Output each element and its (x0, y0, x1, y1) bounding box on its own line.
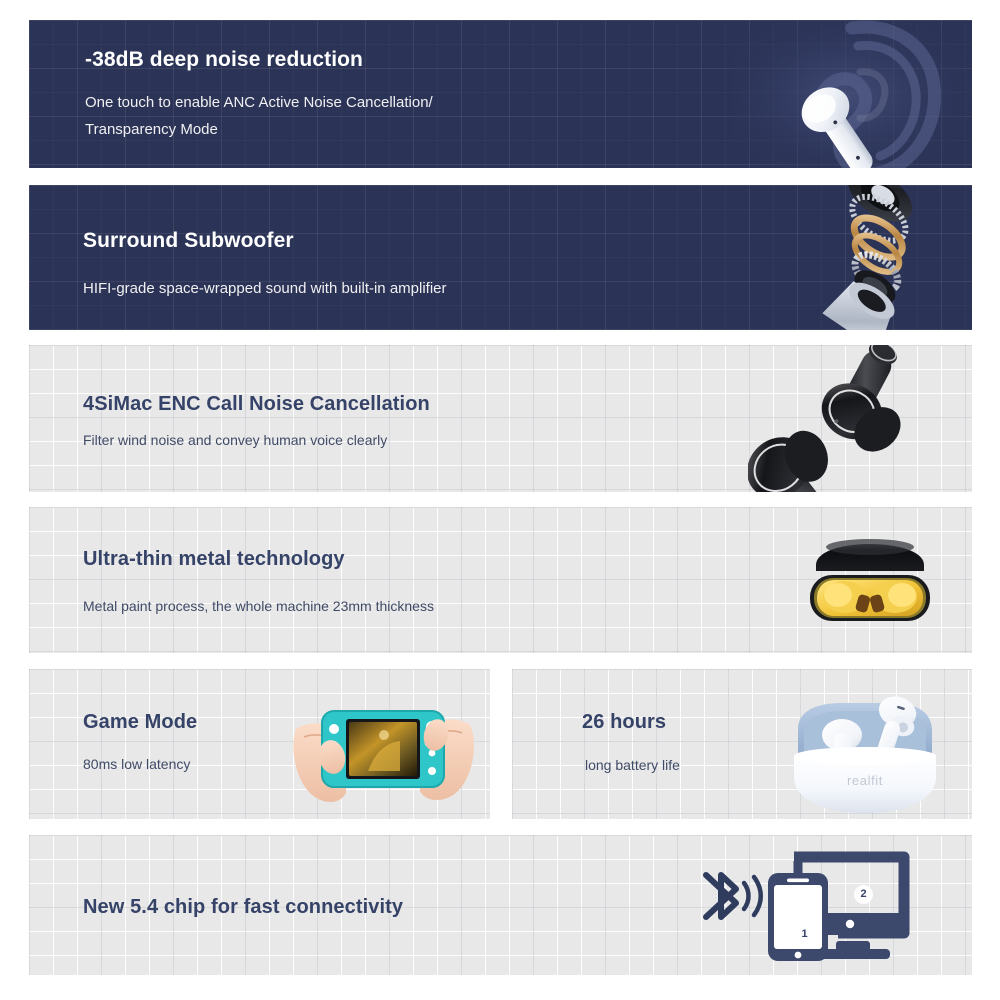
case-brand-text: realfit (847, 773, 883, 788)
panel-game-mode: Game Mode 80ms low latency (29, 669, 490, 819)
panel-title: 4SiMac ENC Call Noise Cancellation (83, 393, 430, 416)
panel-noise-reduction: -38dB deep noise reduction One touch to … (29, 20, 972, 168)
two-black-earbuds-art (748, 345, 968, 492)
panel-title: Game Mode (83, 711, 197, 734)
device-badge-1: 1 (795, 925, 814, 944)
panel-enc-call-noise-cancellation: 4SiMac ENC Call Noise Cancellation Filte… (29, 345, 972, 492)
white-charging-case-art: realfit (780, 677, 950, 817)
panel-surround-subwoofer: Surround Subwoofer HIFI-grade space-wrap… (29, 185, 972, 330)
panel-title: 26 hours (582, 711, 680, 734)
panel-bluetooth-chip-text: New 5.4 chip for fast connectivity (83, 896, 403, 919)
panel-battery-life-text: 26 hours long battery life (582, 711, 680, 773)
bluetooth-multipoint-devices-art: 1 2 (690, 841, 950, 973)
panel-bluetooth-chip: 1 2 New 5.4 chip for fast connectivity (29, 835, 972, 975)
panel-title: -38dB deep noise reduction (85, 48, 545, 72)
monitor-icon (794, 857, 906, 959)
panel-subtitle-line-1: HIFI-grade space-wrapped sound with buil… (83, 275, 447, 302)
smartphone-icon (768, 873, 828, 961)
panel-subtitle-line-2: Transparency Mode (85, 116, 545, 143)
panel-title: New 5.4 chip for fast connectivity (83, 896, 403, 919)
panel-enc-text: 4SiMac ENC Call Noise Cancellation Filte… (83, 393, 430, 448)
open-charging-case-gold-art (800, 527, 940, 625)
panel-subtitle-line-1: Metal paint process, the whole machine 2… (83, 598, 434, 614)
panel-subtitle-line-1: long battery life (585, 757, 680, 773)
ear-with-white-earbud-art (732, 20, 972, 168)
panel-title: Surround Subwoofer (83, 229, 447, 253)
bluetooth-wave-icon (744, 877, 761, 915)
panel-ultra-thin-metal-text: Ultra-thin metal technology Metal paint … (83, 548, 434, 614)
panel-noise-reduction-text: -38dB deep noise reduction One touch to … (85, 48, 545, 143)
panel-subtitle-line-1: One touch to enable ANC Active Noise Can… (85, 89, 545, 116)
panel-ultra-thin-metal: Ultra-thin metal technology Metal paint … (29, 507, 972, 653)
exploded-speaker-driver-art (792, 185, 972, 330)
panel-game-mode-text: Game Mode 80ms low latency (83, 711, 197, 772)
bluetooth-icon (706, 875, 736, 917)
device-badge-2: 2 (854, 885, 873, 904)
panel-subtitle-line-1: 80ms low latency (83, 756, 197, 772)
panel-battery-life: realfit 26 hours long battery life (512, 669, 972, 819)
infographic-page: -38dB deep noise reduction One touch to … (0, 0, 1000, 1000)
panel-subtitle-line-1: Filter wind noise and convey human voice… (83, 432, 430, 448)
handheld-game-console-art (288, 681, 478, 811)
panel-title: Ultra-thin metal technology (83, 548, 434, 571)
panel-surround-subwoofer-text: Surround Subwoofer HIFI-grade space-wrap… (83, 229, 447, 302)
